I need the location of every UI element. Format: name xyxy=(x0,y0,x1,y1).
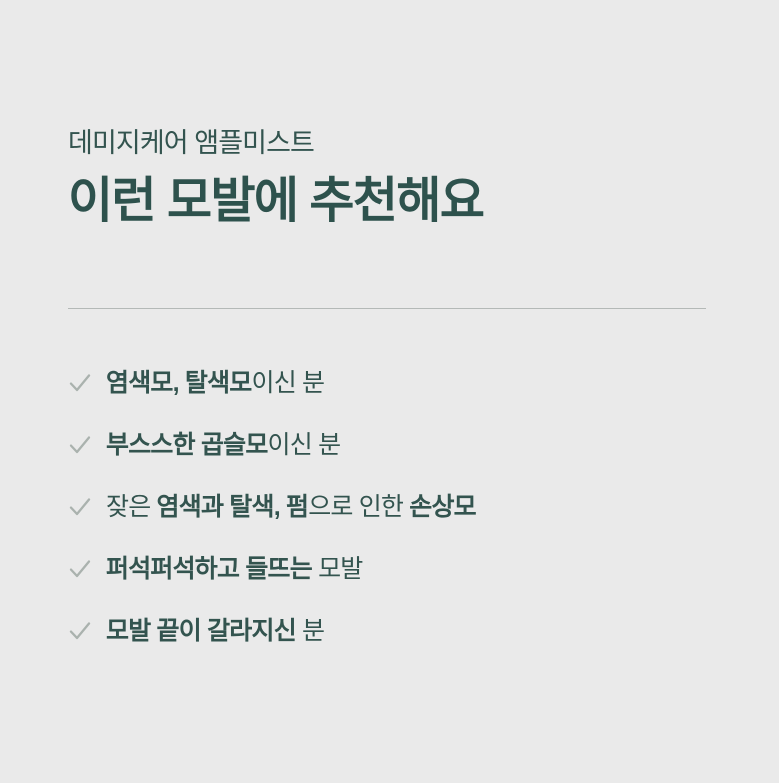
list-item-label: 부스스한 곱슬모이신 분 xyxy=(106,430,340,460)
label-segment: 모발 xyxy=(312,555,363,583)
label-segment: 이신 분 xyxy=(268,431,341,459)
header-block: 데미지케어 앰플미스트 이런 모발에 추천해요 xyxy=(68,126,708,231)
check-icon xyxy=(68,556,106,582)
label-segment: 염색모, 탈색모 xyxy=(106,369,252,397)
list-item: 모발 끝이 갈라지신 분 xyxy=(68,600,728,662)
section-divider xyxy=(68,308,706,309)
check-icon xyxy=(68,494,106,520)
label-segment: 퍼석퍼석하고 들뜨는 xyxy=(106,555,312,583)
label-segment: 이신 분 xyxy=(252,369,325,397)
check-icon xyxy=(68,618,106,644)
label-segment: 모발 끝이 갈라지신 xyxy=(106,617,296,645)
list-item-label: 잦은 염색과 탈색, 펌으로 인한 손상모 xyxy=(106,492,476,522)
product-detail-page: 데미지케어 앰플미스트 이런 모발에 추천해요 염색모, 탈색모이신 분부스스한… xyxy=(0,0,779,783)
check-icon xyxy=(68,370,106,396)
list-item: 부스스한 곱슬모이신 분 xyxy=(68,414,728,476)
label-segment: 으로 인한 xyxy=(308,493,409,521)
check-icon xyxy=(68,432,106,458)
product-name-eyebrow: 데미지케어 앰플미스트 xyxy=(68,126,708,162)
label-segment: 잦은 xyxy=(106,493,157,521)
list-item-label: 모발 끝이 갈라지신 분 xyxy=(106,616,324,646)
list-item: 퍼석퍼석하고 들뜨는 모발 xyxy=(68,538,728,600)
list-item-label: 퍼석퍼석하고 들뜨는 모발 xyxy=(106,554,363,584)
list-item: 잦은 염색과 탈색, 펌으로 인한 손상모 xyxy=(68,476,728,538)
label-segment: 염색과 탈색, 펌 xyxy=(157,493,309,521)
label-segment: 분 xyxy=(296,617,324,645)
list-item: 염색모, 탈색모이신 분 xyxy=(68,352,728,414)
list-item-label: 염색모, 탈색모이신 분 xyxy=(106,368,324,398)
recommendation-checklist: 염색모, 탈색모이신 분부스스한 곱슬모이신 분잦은 염색과 탈색, 펌으로 인… xyxy=(68,352,728,662)
label-segment: 손상모 xyxy=(409,493,476,521)
page-title: 이런 모발에 추천해요 xyxy=(68,172,708,232)
label-segment: 부스스한 곱슬모 xyxy=(106,431,268,459)
